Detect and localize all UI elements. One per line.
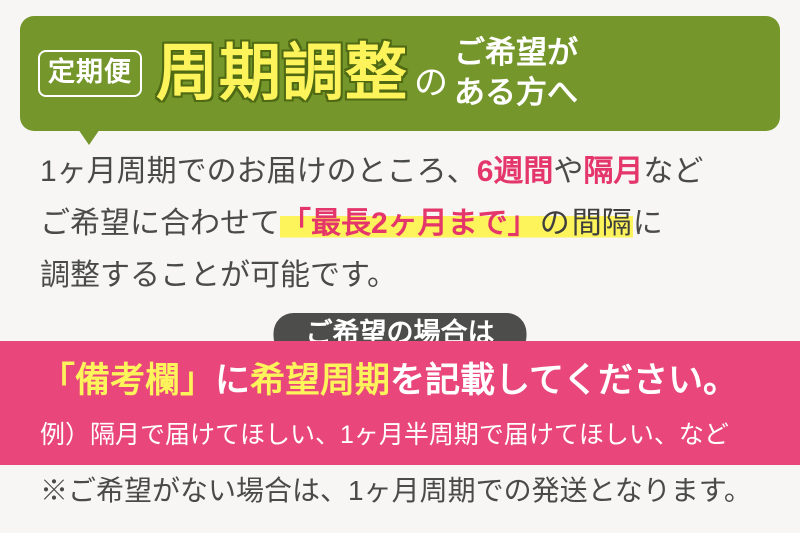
subscription-badge: 定期便 <box>38 50 142 97</box>
instruction-band: 「備考欄」に希望周期を記載してください。 例）隔月で届けてほしい、1ヶ月半周期で… <box>0 341 800 465</box>
instruction-remarks-field: 「備考欄」 <box>40 361 215 400</box>
banner-subtitle: ご希望が ある方へ <box>454 36 578 110</box>
body-line1-part-e: など <box>643 155 703 188</box>
body-line-2: ご希望に合わせて「最長2ヶ月まで」の間隔に <box>40 198 770 250</box>
banner-title: 周期調整 <box>156 43 408 105</box>
instruction-desired-cycle: 希望周期 <box>250 361 390 400</box>
body-line1-emphasis-6weeks: 6週間 <box>477 155 554 188</box>
body-line-3: 調整することが可能です。 <box>40 250 770 302</box>
body-line2-part-c: の <box>539 207 571 240</box>
banner-speech-tail <box>78 129 100 145</box>
instruction-part-b: に <box>215 361 250 400</box>
instruction-part-d: を記載してください。 <box>390 361 738 400</box>
body-line2-part-e: に <box>633 207 663 240</box>
body-line1-part-a: 1ヶ月周期でのお届けのところ、 <box>40 155 477 188</box>
banner-particle: の <box>414 66 448 100</box>
body-line2-emphasis-interval: 間隔 <box>571 207 633 240</box>
body-line1-part-c: や <box>553 155 583 188</box>
body-line2-part-a: ご希望に合わせて <box>40 207 280 240</box>
footer-note: ※ご希望がない場合は、1ヶ月周期での発送となります。 <box>40 477 752 505</box>
body-line-1: 1ヶ月周期でのお届けのところ、6週間や隔月など <box>40 146 770 198</box>
banner-subtitle-line1: ご希望が <box>454 35 578 70</box>
promo-page: 定期便 周期調整 の ご希望が ある方へ 1ヶ月周期でのお届けのところ、6週間や… <box>0 0 800 533</box>
body-paragraph: 1ヶ月周期でのお届けのところ、6週間や隔月など ご希望に合わせて「最長2ヶ月まで… <box>40 146 770 302</box>
instruction-example: 例）隔月で届けてほしい、1ヶ月半周期で届けてほしい、など <box>40 423 729 448</box>
body-line1-emphasis-everyothermonth: 隔月 <box>583 155 643 188</box>
body-line2-emphasis-maxtwomonths: 「最長2ヶ月まで」 <box>280 207 539 240</box>
header-banner: 定期便 周期調整 の ご希望が ある方へ <box>20 16 780 131</box>
banner-subtitle-line2: ある方へ <box>454 76 578 111</box>
instruction-main: 「備考欄」に希望周期を記載してください。 <box>40 363 738 398</box>
